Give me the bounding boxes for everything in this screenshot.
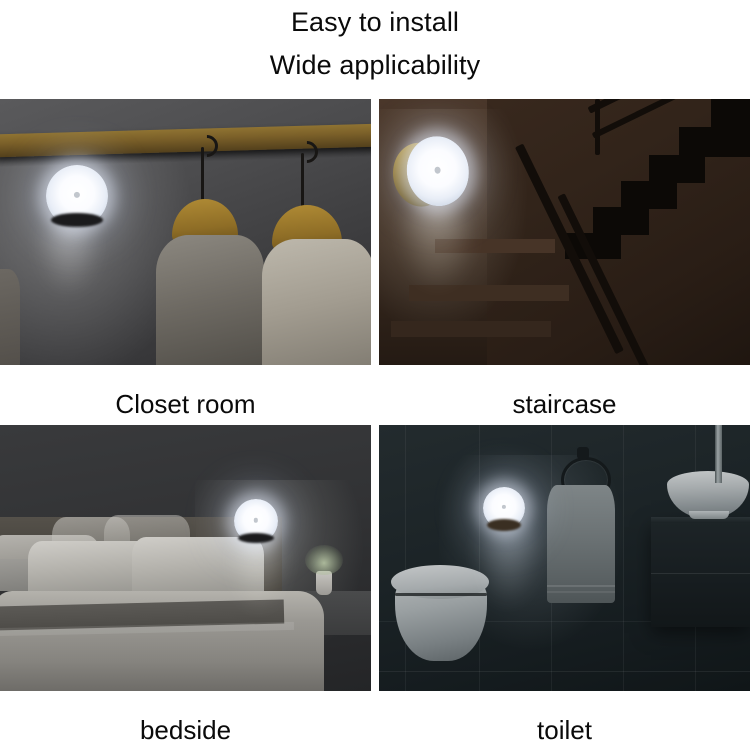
night-light-base bbox=[487, 519, 521, 531]
light-spill bbox=[473, 521, 543, 607]
stair-step bbox=[593, 207, 649, 235]
motion-sensor-icon bbox=[502, 505, 506, 509]
hanging-garment bbox=[156, 235, 264, 365]
sink-pedestal bbox=[689, 511, 729, 519]
scene-cell-bedside: bedside bbox=[0, 425, 371, 743]
hanging-garment bbox=[262, 239, 371, 365]
caption-closet-room: Closet room bbox=[0, 365, 371, 417]
towel-ring-mount bbox=[577, 447, 589, 459]
floor-edge-line bbox=[379, 671, 750, 672]
light-spill bbox=[397, 199, 471, 291]
headline-line-2: Wide applicability bbox=[0, 36, 750, 79]
light-spill bbox=[228, 533, 290, 611]
scene-row-bottom: bedside bbox=[0, 425, 750, 743]
night-light-base bbox=[238, 533, 274, 543]
rail-post bbox=[595, 99, 600, 155]
scene-cell-toilet: toilet bbox=[379, 425, 750, 743]
vanity-cabinet bbox=[651, 521, 750, 627]
faucet bbox=[715, 425, 722, 483]
caption-bedside: bedside bbox=[0, 691, 371, 743]
hanger-hook-stem bbox=[201, 147, 204, 205]
plant-foliage-icon bbox=[305, 545, 343, 575]
night-light-device bbox=[388, 132, 475, 214]
scene-grid: Closet room bbox=[0, 99, 750, 743]
photo-closet-room bbox=[0, 99, 371, 365]
night-light-base bbox=[51, 213, 103, 227]
towel-hem-line bbox=[547, 585, 615, 587]
toilet-seat-gap bbox=[395, 593, 487, 596]
scene-cell-staircase: staircase bbox=[379, 99, 750, 417]
towel-hem-line bbox=[547, 591, 615, 593]
stair-step bbox=[679, 127, 750, 157]
hanger-hook-stem bbox=[301, 153, 304, 211]
light-spill bbox=[36, 217, 102, 295]
motion-sensor-icon bbox=[434, 166, 441, 174]
scene-cell-closet: Closet room bbox=[0, 99, 371, 417]
motion-sensor-icon bbox=[254, 518, 258, 522]
caption-staircase: staircase bbox=[379, 365, 750, 417]
photo-staircase bbox=[379, 99, 750, 365]
vanity-drawer-line bbox=[651, 573, 750, 574]
photo-bedside bbox=[0, 425, 371, 691]
stair-step bbox=[621, 181, 677, 209]
tile-grout-line bbox=[405, 425, 406, 691]
caption-toilet: toilet bbox=[379, 691, 750, 743]
scene-row-top: Closet room bbox=[0, 99, 750, 417]
hanging-garment-partial bbox=[0, 269, 20, 365]
photo-toilet bbox=[379, 425, 750, 691]
landing-step bbox=[391, 321, 551, 337]
row-spacer bbox=[0, 417, 750, 425]
motion-sensor-icon bbox=[74, 192, 80, 198]
headline-line-1: Easy to install bbox=[0, 0, 750, 36]
stair-step bbox=[649, 155, 705, 183]
